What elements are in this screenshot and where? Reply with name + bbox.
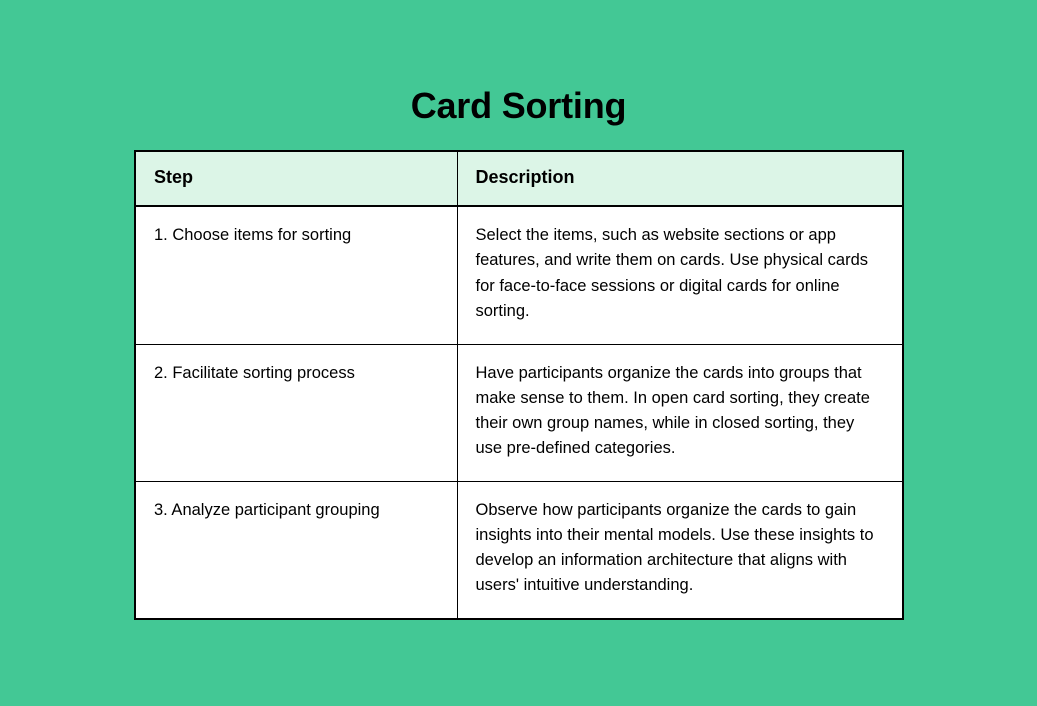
card-sorting-table: Step Description 1. Choose items for sor…: [134, 150, 904, 620]
page-title: Card Sorting: [0, 86, 1037, 126]
table-header-row: Step Description: [135, 151, 903, 206]
table-row: 3. Analyze participant grouping Observe …: [135, 482, 903, 620]
table-body: 1. Choose items for sorting Select the i…: [135, 206, 903, 619]
page-root: Card Sorting Step Description 1. Choose …: [0, 0, 1037, 706]
table-row: 1. Choose items for sorting Select the i…: [135, 206, 903, 344]
column-header-description: Description: [457, 151, 903, 206]
table-header: Step Description: [135, 151, 903, 206]
cell-step: 3. Analyze participant grouping: [135, 482, 457, 620]
cell-description: Select the items, such as website sectio…: [457, 206, 903, 344]
column-header-step: Step: [135, 151, 457, 206]
cell-step: 1. Choose items for sorting: [135, 206, 457, 344]
cell-step: 2. Facilitate sorting process: [135, 344, 457, 481]
cell-description: Observe how participants organize the ca…: [457, 482, 903, 620]
table-row: 2. Facilitate sorting process Have parti…: [135, 344, 903, 481]
card-sorting-table-wrapper: Step Description 1. Choose items for sor…: [134, 150, 902, 620]
cell-description: Have participants organize the cards int…: [457, 344, 903, 481]
